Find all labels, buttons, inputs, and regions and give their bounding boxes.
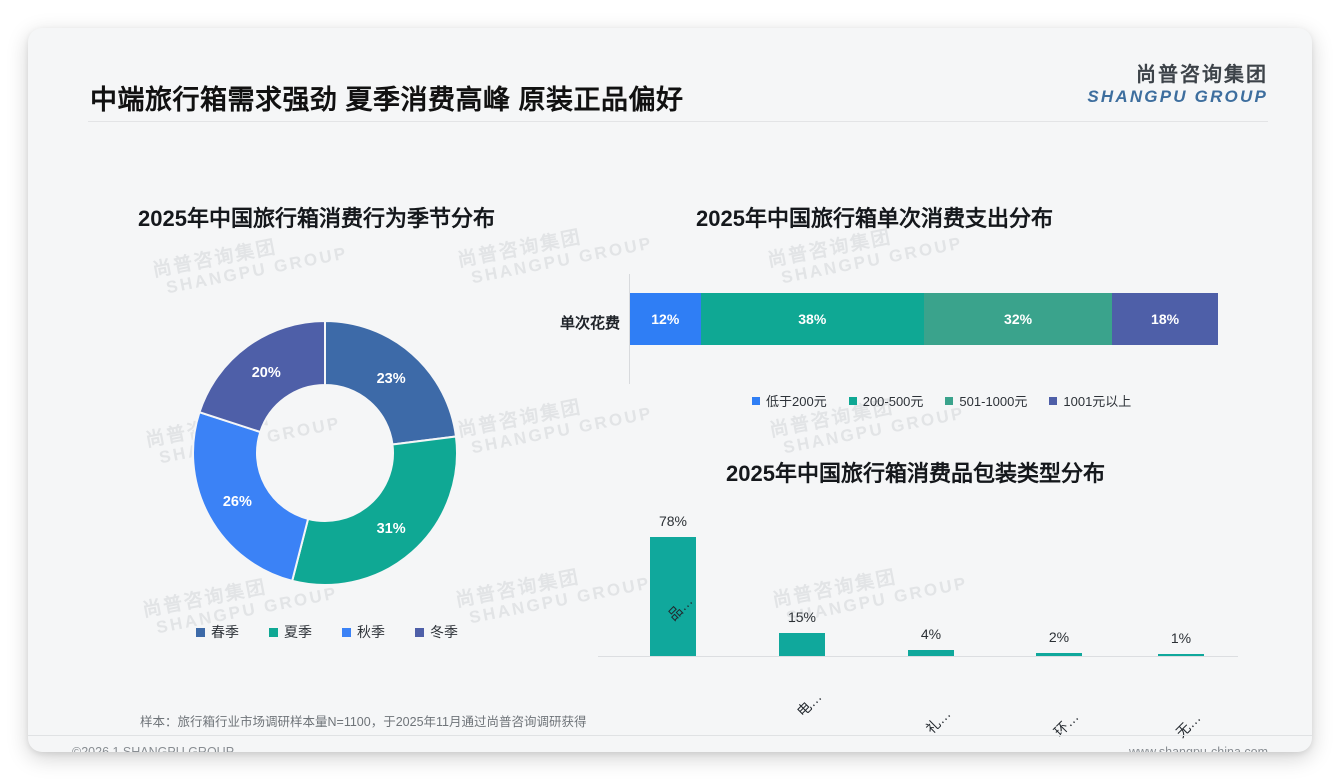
legend-swatch-icon bbox=[849, 397, 857, 405]
sample-note: 样本：旅行箱行业市场调研样本量N=1100，于2025年11月通过尚普咨询调研获… bbox=[140, 711, 587, 730]
legend-item[interactable]: 冬季 bbox=[415, 622, 458, 642]
legend-label: 秋季 bbox=[357, 622, 385, 642]
donut-svg: 23%31%26%20% bbox=[183, 311, 467, 595]
column-group: 1%无… bbox=[1158, 654, 1204, 656]
page-title: 中端旅行箱需求强劲 夏季消费高峰 原装正品偏好 bbox=[90, 78, 684, 117]
spend-stacked-chart: 单次花费 12%38%32%18% bbox=[528, 274, 1228, 384]
legend-item[interactable]: 1001元以上 bbox=[1049, 391, 1131, 410]
brand-logo: 尚普咨询集团 SHANGPU GROUP bbox=[1087, 64, 1268, 107]
column-group: 15%电… bbox=[779, 633, 825, 656]
column-baseline bbox=[598, 656, 1238, 657]
legend-label: 1001元以上 bbox=[1063, 391, 1131, 410]
legend-item[interactable]: 低于200元 bbox=[752, 391, 827, 410]
column-value-label: 15% bbox=[757, 609, 847, 625]
legend-swatch-icon bbox=[415, 628, 424, 637]
column-group: 2%环… bbox=[1036, 653, 1082, 656]
column-axis-label: 礼… bbox=[915, 698, 962, 745]
slide-header: 中端旅行箱需求强劲 夏季消费高峰 原装正品偏好 尚普咨询集团 SHANGPU G… bbox=[28, 28, 1312, 124]
package-column-chart: 78%品…15%电…4%礼…2%环…1%无… bbox=[598, 518, 1238, 713]
logo-text-en: SHANGPU GROUP bbox=[1087, 87, 1268, 107]
legend-swatch-icon bbox=[269, 628, 278, 637]
donut-slice-value: 20% bbox=[252, 365, 281, 381]
donut-slices bbox=[193, 321, 457, 585]
column-group: 4%礼… bbox=[908, 650, 954, 656]
column-bar[interactable] bbox=[908, 650, 954, 656]
season-donut-chart: 23%31%26%20% bbox=[183, 311, 467, 595]
column-bar[interactable] bbox=[1158, 654, 1204, 656]
slide-card: 尚普咨询集团SHANGPU GROUP 尚普咨询集团SHANGPU GROUP … bbox=[28, 28, 1312, 752]
chart-title-season: 2025年中国旅行箱消费行为季节分布 bbox=[138, 201, 495, 233]
donut-slice-value: 31% bbox=[377, 521, 406, 537]
slide-body: 2025年中国旅行箱消费行为季节分布 2025年中国旅行箱单次消费支出分布 20… bbox=[28, 28, 1312, 752]
footer-divider bbox=[28, 735, 1312, 736]
column-value-label: 2% bbox=[1014, 629, 1104, 645]
stacked-bar-track: 12%38%32%18% bbox=[630, 293, 1218, 345]
spend-legend: 低于200元200-500元501-1000元1001元以上 bbox=[752, 391, 1131, 410]
legend-label: 低于200元 bbox=[766, 391, 827, 410]
legend-swatch-icon bbox=[1049, 397, 1057, 405]
header-divider bbox=[88, 121, 1268, 122]
legend-swatch-icon bbox=[945, 397, 953, 405]
season-legend: 春季夏季秋季冬季 bbox=[196, 622, 458, 642]
legend-label: 夏季 bbox=[284, 622, 312, 642]
legend-label: 501-1000元 bbox=[959, 391, 1027, 410]
donut-slice-value: 23% bbox=[377, 371, 406, 387]
column-bar[interactable] bbox=[1036, 653, 1082, 656]
legend-item[interactable]: 秋季 bbox=[342, 622, 385, 642]
legend-item[interactable]: 501-1000元 bbox=[945, 391, 1027, 410]
stacked-segment[interactable]: 18% bbox=[1112, 293, 1218, 345]
donut-slice[interactable] bbox=[292, 436, 457, 585]
legend-swatch-icon bbox=[196, 628, 205, 637]
column-axis-label: 电… bbox=[786, 681, 833, 728]
column-group: 78%品… bbox=[650, 537, 696, 656]
stacked-segment[interactable]: 32% bbox=[924, 293, 1112, 345]
column-axis-label: 无… bbox=[1165, 702, 1212, 749]
column-bar[interactable] bbox=[779, 633, 825, 656]
footer-copyright: ©2026.1 SHANGPU GROUP bbox=[72, 745, 234, 752]
legend-swatch-icon bbox=[752, 397, 760, 405]
stacked-segment[interactable]: 38% bbox=[701, 293, 924, 345]
column-value-label: 78% bbox=[628, 513, 718, 529]
legend-item[interactable]: 春季 bbox=[196, 622, 239, 642]
footer-website: www.shangpu-china.com bbox=[1129, 745, 1268, 752]
legend-swatch-icon bbox=[342, 628, 351, 637]
legend-label: 200-500元 bbox=[863, 391, 924, 410]
stacked-segment[interactable]: 12% bbox=[630, 293, 701, 345]
column-axis-label: 环… bbox=[1043, 701, 1090, 748]
chart-title-spend: 2025年中国旅行箱单次消费支出分布 bbox=[696, 201, 1053, 233]
stacked-category-label: 单次花费 bbox=[528, 312, 620, 333]
legend-label: 春季 bbox=[211, 622, 239, 642]
donut-slice-value: 26% bbox=[223, 494, 252, 510]
legend-item[interactable]: 夏季 bbox=[269, 622, 312, 642]
column-value-label: 4% bbox=[886, 626, 976, 642]
legend-label: 冬季 bbox=[430, 622, 458, 642]
chart-title-package: 2025年中国旅行箱消费品包装类型分布 bbox=[726, 456, 1105, 488]
legend-item[interactable]: 200-500元 bbox=[849, 391, 924, 410]
column-value-label: 1% bbox=[1136, 630, 1226, 646]
logo-text-cn: 尚普咨询集团 bbox=[1087, 64, 1268, 87]
